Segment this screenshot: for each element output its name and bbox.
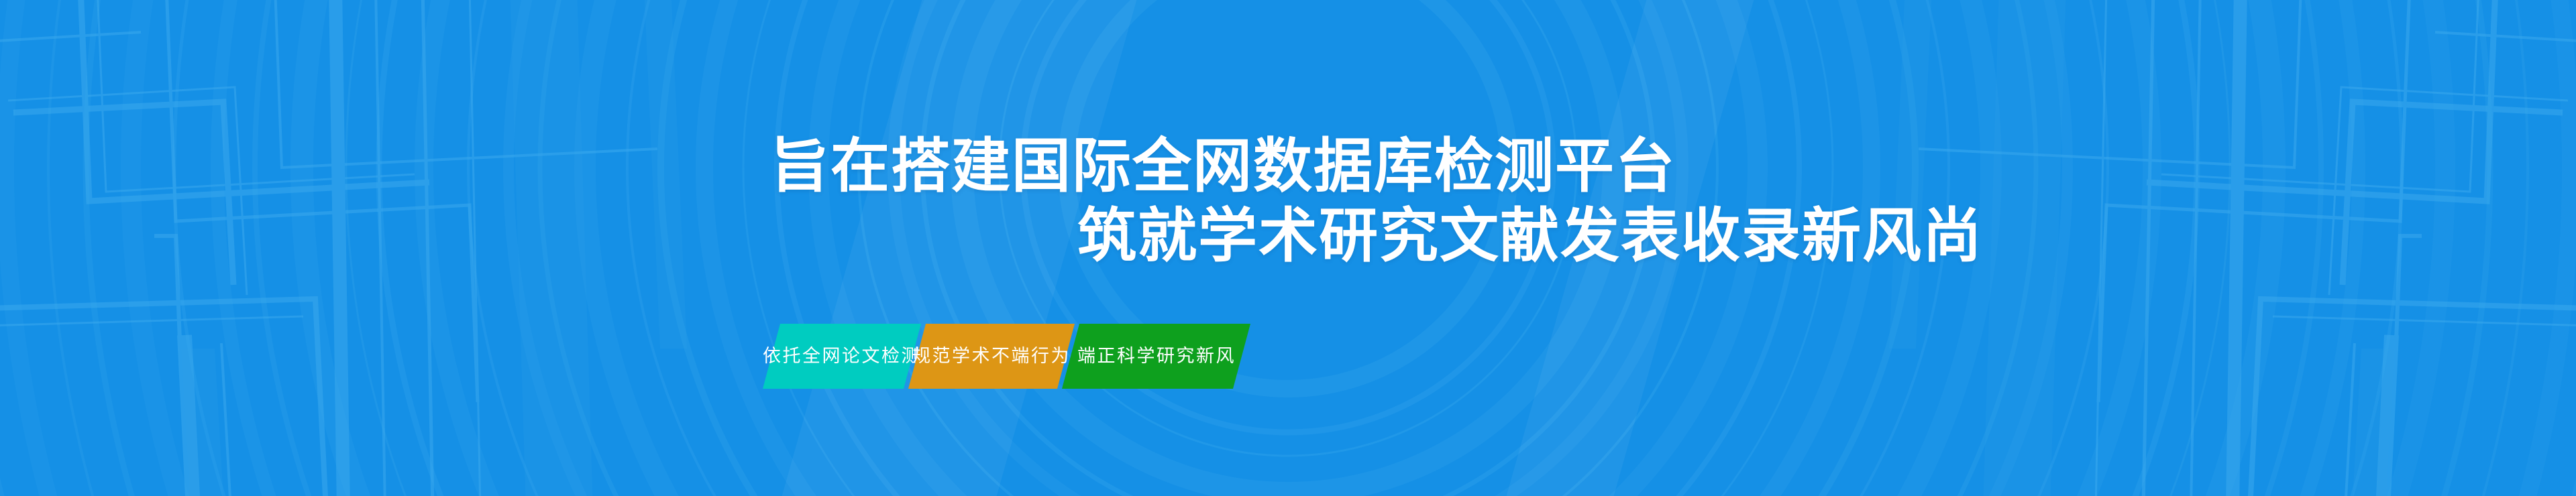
feature-tag-1[interactable]: 依托全网论文检测 bbox=[763, 324, 921, 389]
headline-block: 旨在搭建国际全网数据库检测平台 筑就学术研究文献发表收录新风尚 bbox=[0, 131, 2576, 271]
headline-line-1: 旨在搭建国际全网数据库检测平台 bbox=[770, 131, 2576, 201]
promo-banner: 旨在搭建国际全网数据库检测平台 筑就学术研究文献发表收录新风尚 依托全网论文检测… bbox=[0, 0, 2576, 496]
feature-tag-3-label: 端正科学研究新风 bbox=[1077, 347, 1236, 365]
headline-line-2: 筑就学术研究文献发表收录新风尚 bbox=[1077, 201, 2576, 271]
feature-tag-1-label: 依托全网论文检测 bbox=[763, 347, 921, 365]
feature-tag-strip: 依托全网论文检测 规范学术不端行为 端正科学研究新风 bbox=[771, 324, 1242, 389]
feature-tag-2[interactable]: 规范学术不端行为 bbox=[908, 324, 1075, 389]
feature-tag-3[interactable]: 端正科学研究新风 bbox=[1062, 324, 1250, 389]
feature-tag-2-label: 规范学术不端行为 bbox=[912, 347, 1071, 365]
